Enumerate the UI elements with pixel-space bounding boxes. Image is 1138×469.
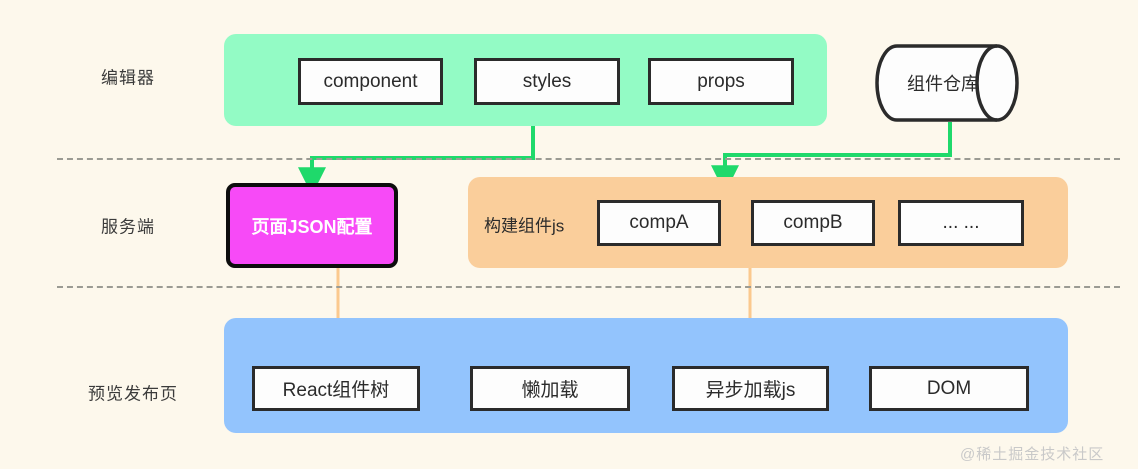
wire-editor-to-json <box>312 126 533 172</box>
node-component[interactable]: component <box>298 58 443 105</box>
node-dom[interactable]: DOM <box>869 366 1029 411</box>
node-compb[interactable]: compB <box>751 200 875 246</box>
component-repository-label: 组件仓库 <box>907 70 979 96</box>
lane-label-server: 服务端 <box>101 213 155 238</box>
node-component-repository[interactable]: 组件仓库 <box>875 43 1025 123</box>
watermark: @稀土掘金技术社区 <box>960 443 1104 464</box>
node-page-json-config[interactable]: 页面JSON配置 <box>226 183 398 268</box>
build-components-label: 构建组件js <box>484 212 564 237</box>
lane-divider-editor-server <box>57 158 1120 160</box>
lane-divider-server-preview <box>57 286 1120 288</box>
node-props[interactable]: props <box>648 58 794 105</box>
node-lazy-load[interactable]: 懒加载 <box>470 366 630 411</box>
node-compa[interactable]: compA <box>597 200 721 246</box>
wire-repo-to-build <box>725 122 950 170</box>
node-react-component-tree[interactable]: React组件树 <box>252 366 420 411</box>
lane-label-preview: 预览发布页 <box>88 380 178 405</box>
node-styles[interactable]: styles <box>474 58 620 105</box>
diagram-canvas: 编辑器 服务端 预览发布页 component styles props 组件仓… <box>0 0 1138 469</box>
lane-label-editor: 编辑器 <box>101 64 155 89</box>
node-more-components[interactable]: ... ... <box>898 200 1024 246</box>
node-async-load-js[interactable]: 异步加载js <box>672 366 829 411</box>
